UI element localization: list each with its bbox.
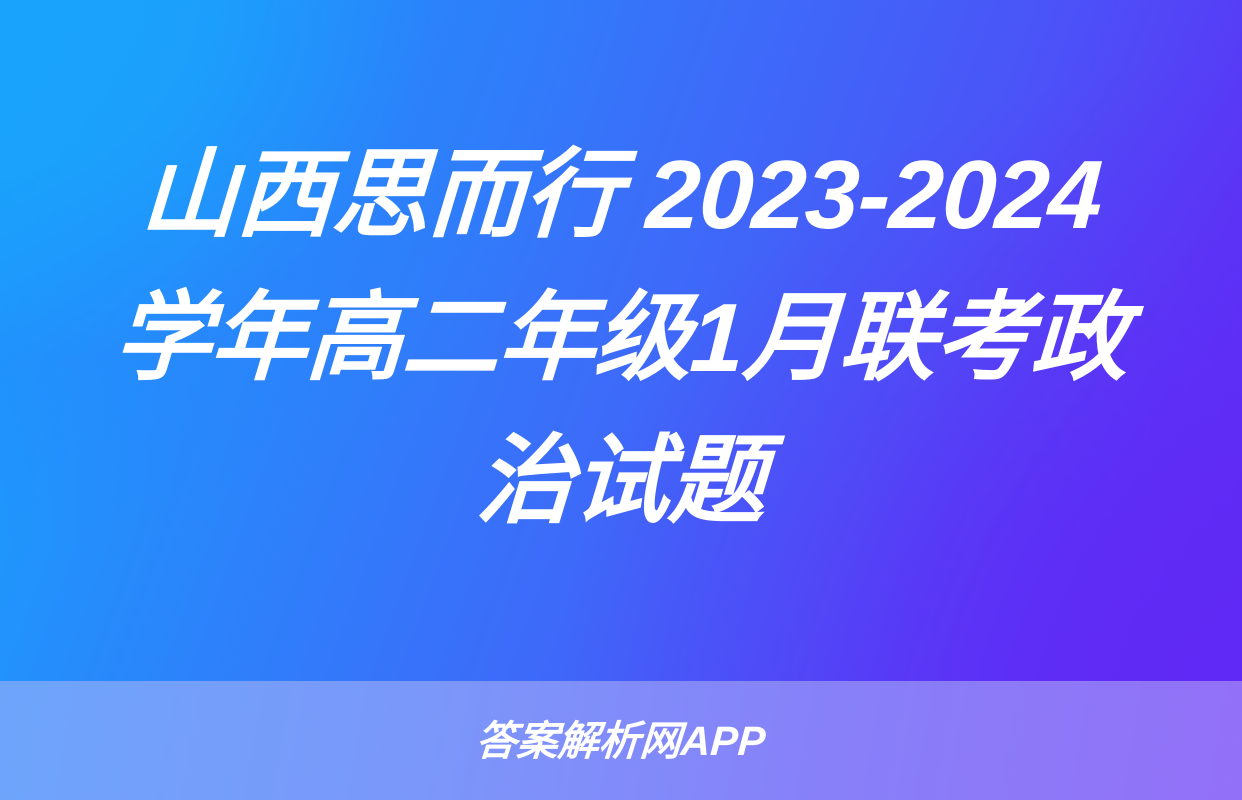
cover-title-line-3: 治试题 xyxy=(72,409,1169,552)
cover-title-line-1: 山西思而行 2023-2024 xyxy=(72,123,1169,266)
hero-gradient-background: 山西思而行 2023-2024 学年高二年级1月联考政 治试题 xyxy=(0,0,1242,681)
cover-title: 山西思而行 2023-2024 学年高二年级1月联考政 治试题 xyxy=(76,123,1166,558)
watermark-bar: 答案解析网APP xyxy=(0,681,1242,800)
watermark-brand-label: 答案解析网APP xyxy=(475,719,767,763)
cover-title-line-2: 学年高二年级1月联考政 xyxy=(72,266,1169,409)
cover-card: 山西思而行 2023-2024 学年高二年级1月联考政 治试题 答案解析网APP xyxy=(0,0,1242,800)
